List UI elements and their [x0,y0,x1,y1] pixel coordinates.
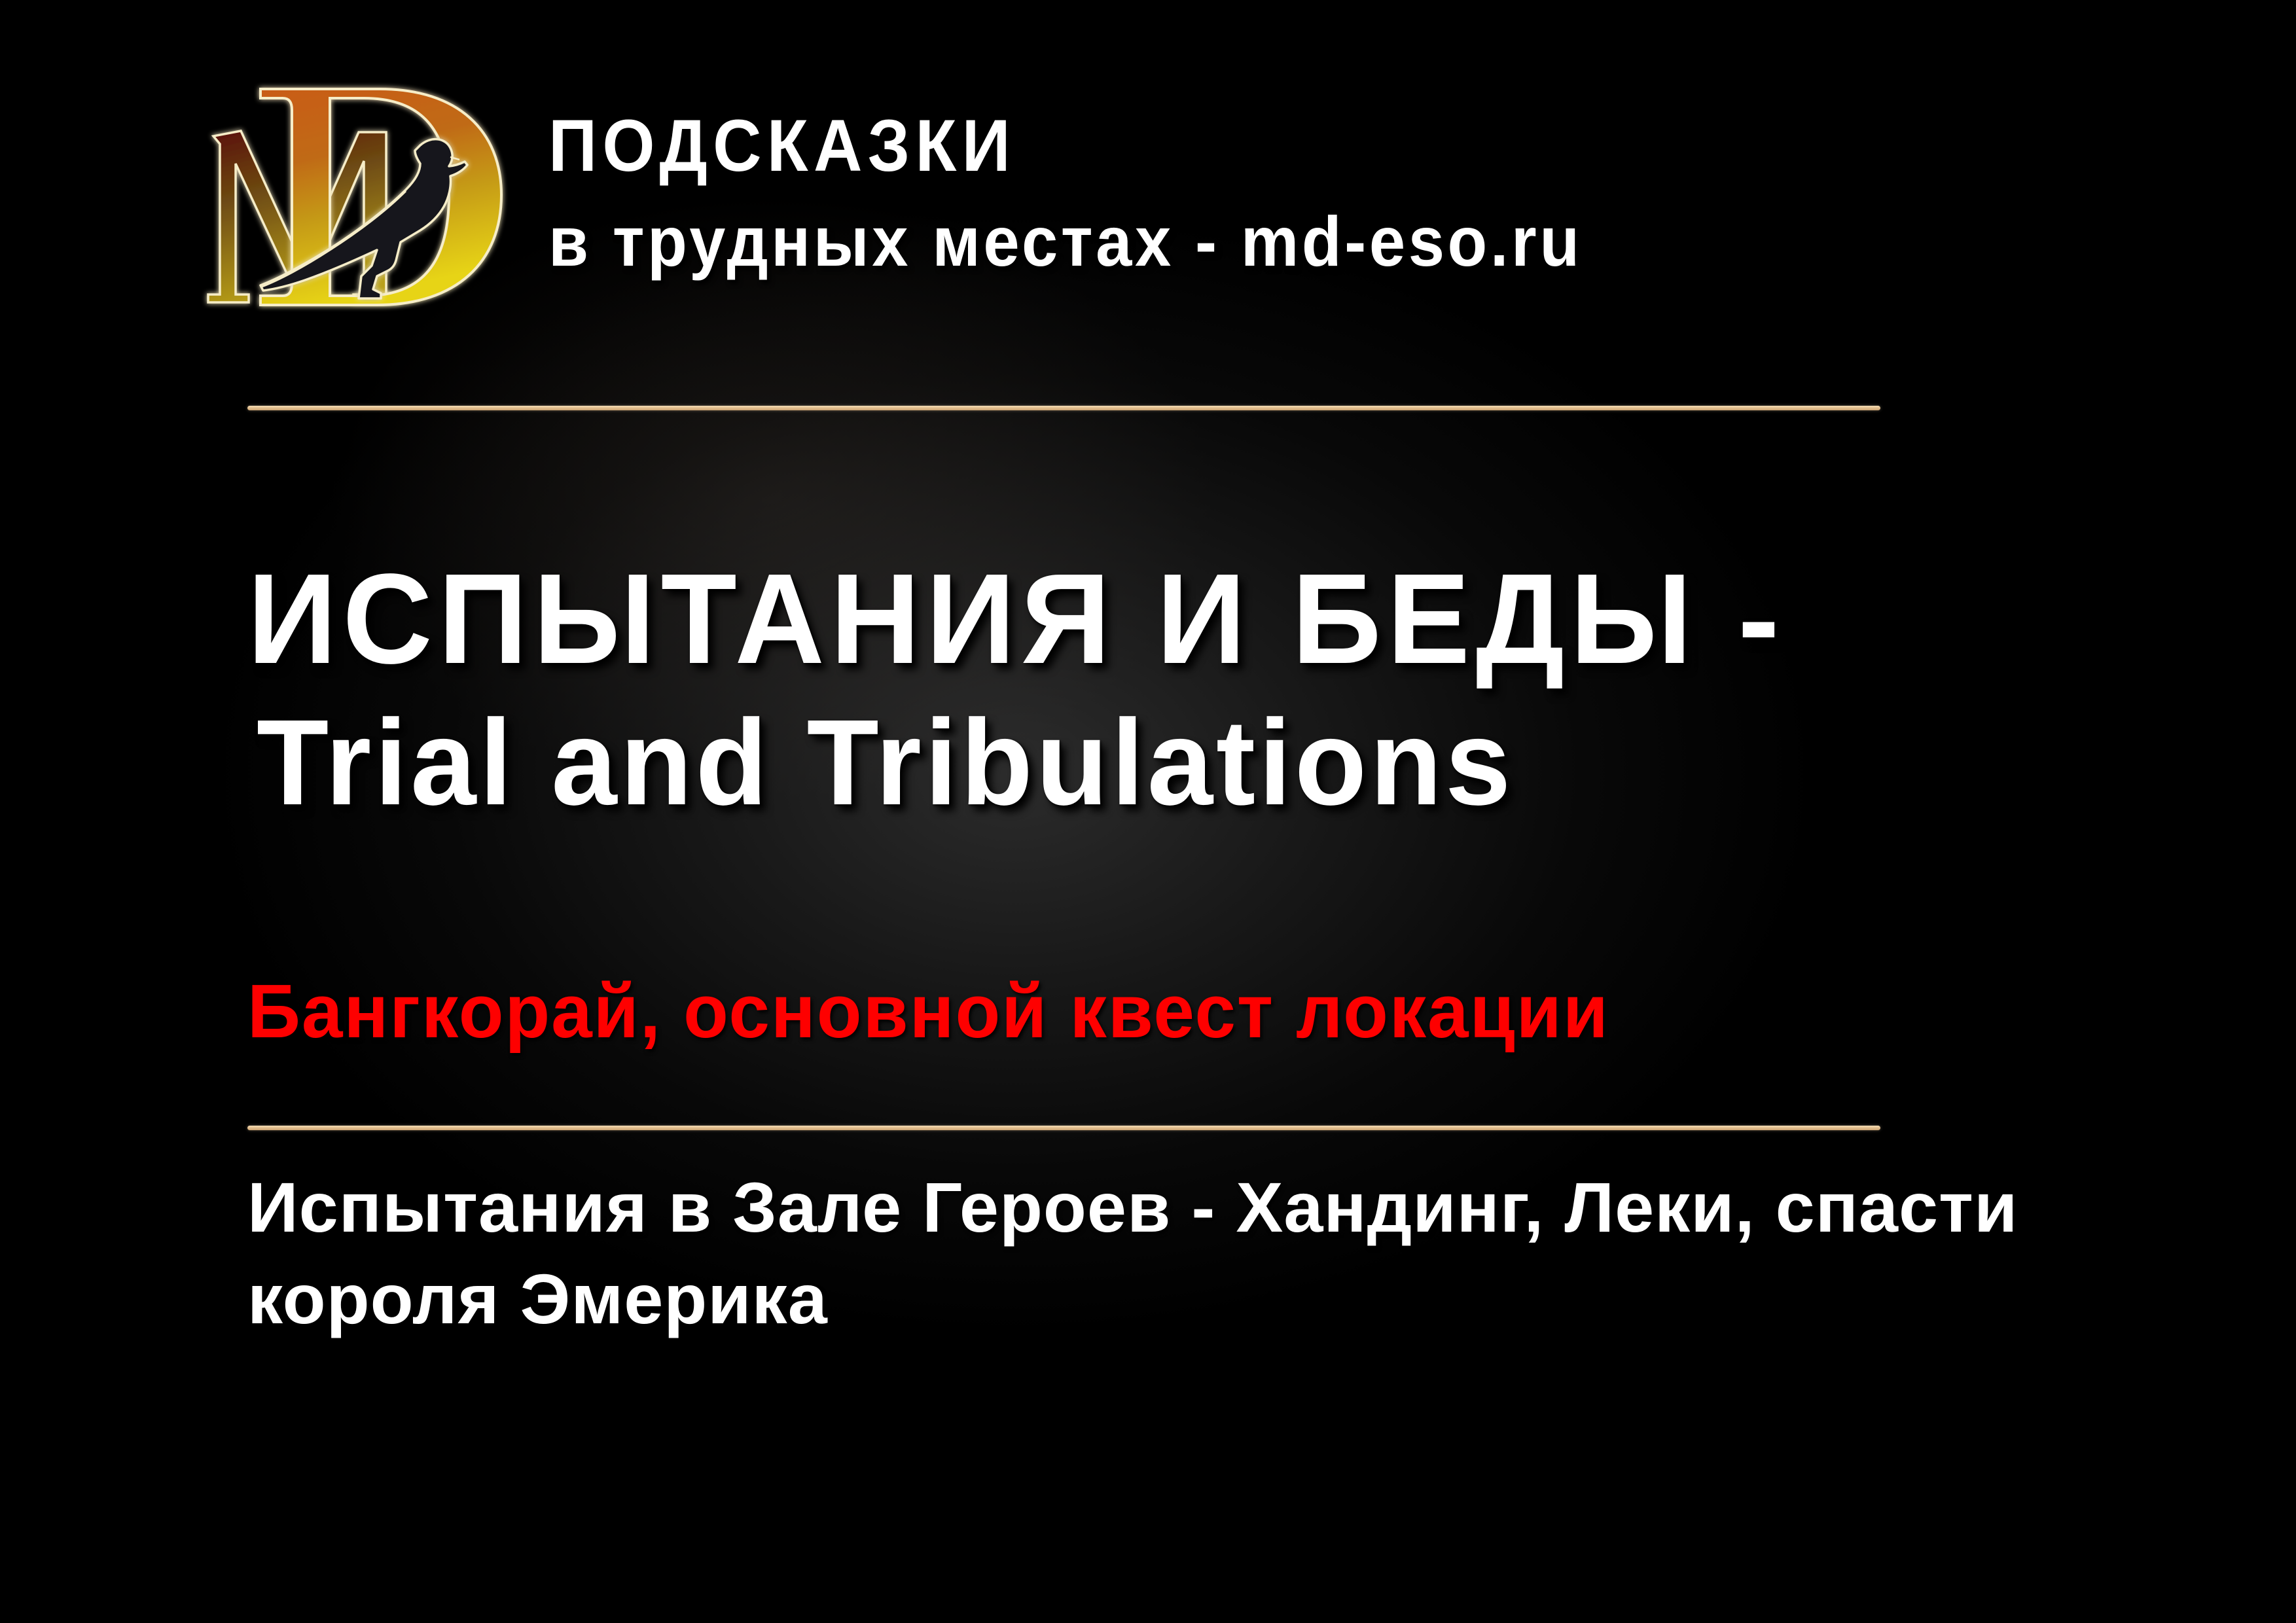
brand-text: ПОДСКАЗКИ в трудных местах - md-eso.ru [548,103,1672,303]
brand-line-podskazki: ПОДСКАЗКИ [548,103,1583,189]
poster-canvas: ПОДСКАЗКИ в трудных местах - md-eso.ru И… [0,0,2296,1623]
site-header: ПОДСКАЗКИ в трудных местах - md-eso.ru [190,46,1672,360]
page-title: ИСПЫТАНИЯ И БЕДЫ - Trial and Tribulation… [247,550,2145,831]
divider-top [247,406,1880,410]
title-english: Trial and Tribulations [257,695,2089,831]
divider-middle [247,1126,1880,1130]
quest-location-subtitle: Бангкорай, основной квест локации [247,967,1609,1055]
title-russian: ИСПЫТАНИЯ И БЕДЫ - [247,550,2089,688]
md-raven-logo-icon [190,46,517,360]
brand-line-site-url: в трудных местах - md-eso.ru [548,198,1583,285]
quest-description: Испытания в Зале Героев - Хандинг, Леки,… [247,1162,2198,1346]
